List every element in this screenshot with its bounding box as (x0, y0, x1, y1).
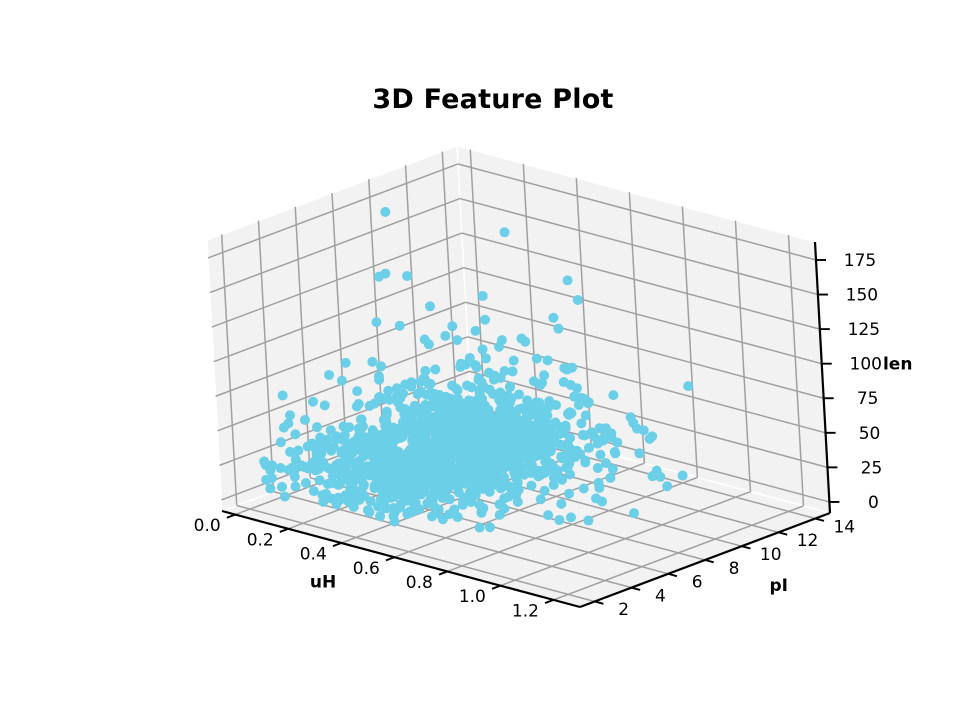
y-axis-label: pI (770, 576, 789, 596)
scatter-point (440, 331, 450, 341)
scatter-point (400, 418, 410, 428)
scatter-point (379, 448, 389, 458)
scatter-point (532, 432, 542, 442)
scatter-point (519, 433, 529, 443)
scatter-point (420, 408, 430, 418)
scatter-point (291, 455, 301, 465)
x-tick-label: 1.0 (459, 587, 486, 607)
scatter-point (580, 430, 590, 440)
scatter-point (303, 442, 313, 452)
scatter-point (352, 401, 362, 411)
scatter-point (652, 466, 662, 476)
z-tick-label: 75 (857, 389, 879, 409)
scatter-point (505, 382, 515, 392)
scatter-point (379, 464, 389, 474)
scatter-point (543, 355, 553, 365)
x-tick-label: 0.6 (353, 559, 380, 579)
scatter-point (608, 464, 618, 474)
x-tick-mark (439, 571, 447, 574)
scatter-point (543, 510, 553, 520)
y-tick-mark (742, 546, 751, 548)
scatter-point (312, 422, 322, 432)
scatter-point (662, 481, 672, 491)
scatter-point (299, 462, 309, 472)
scatter-point (447, 321, 457, 331)
scatter-point (337, 376, 347, 386)
scatter-point (526, 468, 536, 478)
scatter-point (393, 397, 403, 407)
scatter-point (425, 379, 435, 389)
scatter-point (513, 497, 523, 507)
scatter-point (553, 324, 563, 334)
scatter-point (465, 353, 475, 363)
scatter-point (278, 390, 288, 400)
y-tick-mark (631, 588, 640, 590)
x-tick-label: 0.0 (194, 516, 221, 536)
scatter-point (452, 335, 462, 345)
scatter-point (481, 483, 491, 493)
y-tick-label: 10 (760, 545, 782, 565)
scatter-point (276, 463, 286, 473)
scatter-point (634, 448, 644, 458)
scatter-point (564, 459, 574, 469)
scatter-point (478, 503, 488, 513)
scatter-point (504, 492, 514, 502)
y-tick-mark (705, 560, 714, 562)
scatter-point (605, 473, 615, 483)
y-tick-label: 4 (655, 586, 666, 606)
scatter-point (423, 426, 433, 436)
axes-3d: 0.00.20.40.60.81.01.2uH2468101214pI02550… (0, 0, 960, 720)
scatter-point (535, 407, 545, 417)
scatter-point (390, 517, 400, 527)
scatter-point (469, 398, 479, 408)
scatter-point (447, 380, 457, 390)
scatter-point (320, 400, 330, 410)
scatter-point (398, 389, 408, 399)
scatter-point (276, 437, 286, 447)
scatter-point (480, 315, 490, 325)
scatter-point (538, 448, 548, 458)
scatter-point (345, 453, 355, 463)
x-tick-label: 0.4 (300, 545, 327, 565)
scatter-point (279, 423, 289, 433)
scatter-point (277, 482, 287, 492)
scatter-point (433, 410, 443, 420)
scatter-point (494, 395, 504, 405)
scatter-point (566, 512, 576, 522)
scatter-point (364, 507, 374, 517)
scatter-point (378, 394, 388, 404)
scatter-point (453, 438, 463, 448)
y-tick-label: 12 (797, 531, 819, 551)
scatter-point (422, 498, 432, 508)
y-tick-mark (815, 519, 824, 521)
scatter-point (545, 425, 555, 435)
scatter-point (290, 481, 300, 491)
scatter-point (485, 522, 495, 532)
scatter-point (376, 361, 386, 371)
scatter-point (557, 475, 567, 485)
scatter-point (330, 466, 340, 476)
scatter-point (557, 440, 567, 450)
scatter-point (573, 295, 583, 305)
scatter-point (378, 490, 388, 500)
scatter-point (388, 462, 398, 472)
scatter-point (428, 465, 438, 475)
scatter-point (401, 467, 411, 477)
x-tick-label: 0.2 (247, 530, 274, 550)
scatter-point (438, 447, 448, 457)
scatter-point (446, 455, 456, 465)
scatter-point (381, 416, 391, 426)
scatter-point (365, 401, 375, 411)
scatter-point (510, 468, 520, 478)
scatter-point (583, 516, 593, 526)
y-tick-label: 8 (729, 559, 740, 579)
scatter-point (504, 411, 514, 421)
scatter-point (308, 397, 318, 407)
scatter-point (371, 317, 381, 327)
scatter-point (494, 342, 504, 352)
scatter-point (432, 427, 442, 437)
scatter-point (462, 458, 472, 468)
scatter-point (472, 468, 482, 478)
scatter-point (494, 448, 504, 458)
scatter-point (478, 344, 488, 354)
scatter-point (579, 483, 589, 493)
scatter-point (301, 478, 311, 488)
scatter-point (562, 365, 572, 375)
scatter-point (352, 386, 362, 396)
scatter-point (540, 486, 550, 496)
scatter-point (515, 423, 525, 433)
scatter-point (591, 493, 601, 503)
scatter-point (318, 497, 328, 507)
scatter-point (544, 402, 554, 412)
scatter-point (499, 504, 509, 514)
scatter-point (388, 450, 398, 460)
scatter-point (482, 438, 492, 448)
scatter-point (529, 376, 539, 386)
scatter-point (386, 432, 396, 442)
scatter-point (584, 397, 594, 407)
scatter-point (391, 478, 401, 488)
scatter-point (536, 494, 546, 504)
scatter-point (462, 381, 472, 391)
scatter-point (354, 463, 364, 473)
z-tick-label: 125 (848, 320, 880, 340)
scatter-point (309, 486, 319, 496)
scatter-point (456, 406, 466, 416)
scatter-point (509, 482, 519, 492)
x-tick-mark (545, 600, 553, 603)
scatter-point (290, 429, 300, 439)
scatter-point (390, 487, 400, 497)
scatter-point (460, 428, 470, 438)
z-tick-label: 0 (868, 493, 879, 513)
scatter-point (469, 484, 479, 494)
scatter-point (574, 400, 584, 410)
x-tick-mark (386, 557, 394, 560)
scatter-point (500, 227, 510, 237)
scatter-point (549, 480, 559, 490)
scatter-point (595, 450, 605, 460)
z-tick-label: 25 (861, 458, 883, 478)
scatter-point (455, 362, 465, 372)
scatter-point (612, 437, 622, 447)
scatter-point (380, 269, 390, 279)
scatter-point (584, 443, 594, 453)
x-tick-mark (227, 515, 235, 518)
scatter-point (540, 439, 550, 449)
scatter-point (629, 508, 639, 518)
scatter-point (381, 503, 391, 513)
scatter-point (507, 393, 517, 403)
scatter-point (315, 432, 325, 442)
scatter-point (539, 370, 549, 380)
scatter-point (411, 434, 421, 444)
scatter-point (478, 381, 488, 391)
scatter-point (429, 481, 439, 491)
scatter-point (430, 365, 440, 375)
z-axis-label: len (883, 355, 912, 375)
scatter-point (485, 421, 495, 431)
z-tick-label: 100 (850, 355, 882, 375)
scatter-point (450, 465, 460, 475)
scatter-point (265, 484, 275, 494)
scatter-point (581, 410, 591, 420)
scatter-point (425, 301, 435, 311)
y-tick-mark (779, 532, 788, 534)
scatter-point (478, 291, 488, 301)
scatter-point (436, 398, 446, 408)
panes (207, 146, 830, 607)
scatter-point (467, 413, 477, 423)
y-tick-mark (668, 574, 677, 576)
scatter-point (678, 471, 688, 481)
z-tick-label: 50 (859, 424, 881, 444)
z-tick-label: 150 (846, 286, 878, 306)
scatter-point (472, 362, 482, 372)
scatter-point (475, 447, 485, 457)
scatter-point (546, 458, 556, 468)
scatter-point (522, 452, 532, 462)
scatter-point (481, 353, 491, 363)
scatter-point (410, 461, 420, 471)
scatter-point (458, 500, 468, 510)
scatter-point (339, 421, 349, 431)
y-tick-mark (595, 601, 604, 603)
scatter-point (647, 431, 657, 441)
scatter-point (563, 409, 573, 419)
x-tick-label: 1.2 (512, 601, 539, 621)
scatter-point (280, 492, 290, 502)
x-axis-label: uH (310, 573, 336, 593)
scatter-point (610, 448, 620, 458)
scatter-point (261, 475, 271, 485)
scatter-point (532, 354, 542, 364)
scatter-point (300, 415, 310, 425)
scatter-point (290, 472, 300, 482)
scatter-point (554, 515, 564, 525)
scatter-point (563, 275, 573, 285)
y-tick-label: 2 (618, 600, 629, 620)
scatter-point (453, 394, 463, 404)
scatter-point (509, 356, 519, 366)
scatter-point (453, 512, 463, 522)
scatter-point (432, 509, 442, 519)
scatter-point (420, 334, 430, 344)
scatter-point (437, 463, 447, 473)
scatter-point (594, 483, 604, 493)
x-tick-mark (280, 529, 288, 532)
scatter-point (548, 313, 558, 323)
scatter-point (422, 390, 432, 400)
scatter-point (375, 436, 385, 446)
scatter-point (402, 271, 412, 281)
scatter-point (411, 498, 421, 508)
scatter-point (360, 446, 370, 456)
scatter-point (374, 375, 384, 385)
scatter-point (407, 377, 417, 387)
x-tick-label: 0.8 (406, 573, 433, 593)
scatter-point (497, 427, 507, 437)
scatter-point (520, 337, 530, 347)
z-tick-label: 175 (844, 251, 876, 271)
scatter-point (608, 390, 618, 400)
scatter-point (522, 408, 532, 418)
scatter-point (572, 383, 582, 393)
scatter-point (353, 486, 363, 496)
scatter-point (496, 373, 506, 383)
scatter-point (475, 523, 485, 533)
scatter-point (323, 479, 333, 489)
scatter-point (267, 460, 277, 470)
x-tick-mark (333, 543, 341, 546)
scatter-point (639, 425, 649, 435)
scatter-point (480, 400, 490, 410)
scatter-point (508, 366, 518, 376)
scatter-point (367, 357, 377, 367)
scatter-point (564, 489, 574, 499)
scatter-point (349, 502, 359, 512)
y-tick-label: 6 (692, 573, 703, 593)
x-tick-mark (492, 586, 500, 589)
scatter-point (403, 508, 413, 518)
scatter-point (484, 368, 494, 378)
scatter-point (556, 499, 566, 509)
scatter-point (412, 471, 422, 481)
scatter-point (499, 472, 509, 482)
scatter-point (410, 401, 420, 411)
scatter-point (399, 409, 409, 419)
scatter-point (482, 462, 492, 472)
scatter-point (471, 326, 481, 336)
scatter-point (683, 381, 693, 391)
matplotlib-figure: 3D Feature Plot 0.00.20.40.60.81.01.2uH2… (0, 0, 960, 720)
y-tick-label: 14 (833, 517, 855, 537)
scatter-point (324, 370, 334, 380)
scatter-point (461, 479, 471, 489)
scatter-point (534, 398, 544, 408)
scatter-point (561, 421, 571, 431)
scatter-point (316, 449, 326, 459)
scatter-point (526, 481, 536, 491)
scatter-point (453, 418, 463, 428)
scatter-point (341, 358, 351, 368)
scatter-point (556, 452, 566, 462)
scatter-point (596, 435, 606, 445)
scatter-point (395, 321, 405, 331)
scatter-point (380, 207, 390, 217)
scatter-point (580, 457, 590, 467)
scatter-point (331, 431, 341, 441)
